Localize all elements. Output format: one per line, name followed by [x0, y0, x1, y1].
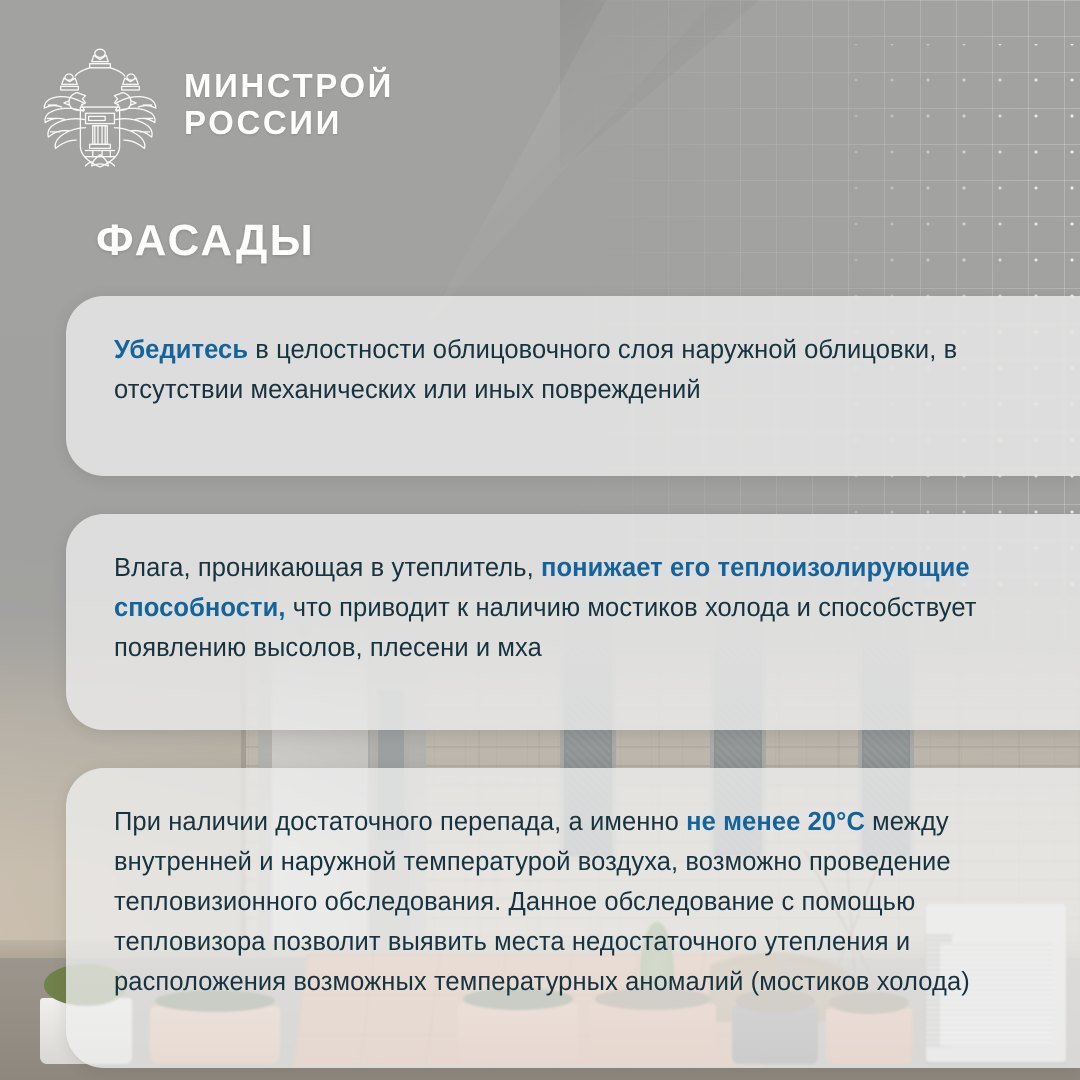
card-text: Убедитесь в целостности облицовочного сл…	[114, 330, 1020, 410]
brand-line-2: РОССИИ	[184, 105, 394, 142]
card-cladding-integrity: Убедитесь в целостности облицовочного сл…	[66, 296, 1080, 476]
card-thermal-imaging: При наличии достаточного перепада, а име…	[66, 768, 1080, 1068]
cards-list: Убедитесь в целостности облицовочного сл…	[66, 296, 1080, 1080]
card-highlight: не менее 20°C	[686, 808, 865, 836]
brand-line-1: МИНСТРОЙ	[184, 68, 394, 105]
russian-coat-of-arms-double-headed-eagle-icon	[38, 42, 162, 168]
card-moisture-insulation: Влага, проникающая в утеплитель, понижае…	[66, 514, 1080, 730]
poster-canvas: МИНСТРОЙ РОССИИ ФАСАДЫ Убедитесь в целос…	[0, 0, 1080, 1080]
card-text: Влага, проникающая в утеплитель, понижае…	[114, 548, 1020, 668]
brand-lockup: МИНСТРОЙ РОССИИ	[38, 42, 394, 168]
card-body-lead: Влага, проникающая в утеплитель,	[114, 554, 541, 582]
brand-name: МИНСТРОЙ РОССИИ	[184, 68, 394, 142]
card-text: При наличии достаточного перепада, а име…	[114, 802, 1020, 1002]
card-body: между внутренней и наружной температурой…	[114, 808, 970, 996]
content-layer: МИНСТРОЙ РОССИИ ФАСАДЫ Убедитесь в целос…	[0, 0, 1080, 1080]
page-title: ФАСАДЫ	[96, 216, 315, 266]
card-body-lead: При наличии достаточного перепада, а име…	[114, 808, 686, 836]
card-highlight: Убедитесь	[114, 336, 248, 364]
